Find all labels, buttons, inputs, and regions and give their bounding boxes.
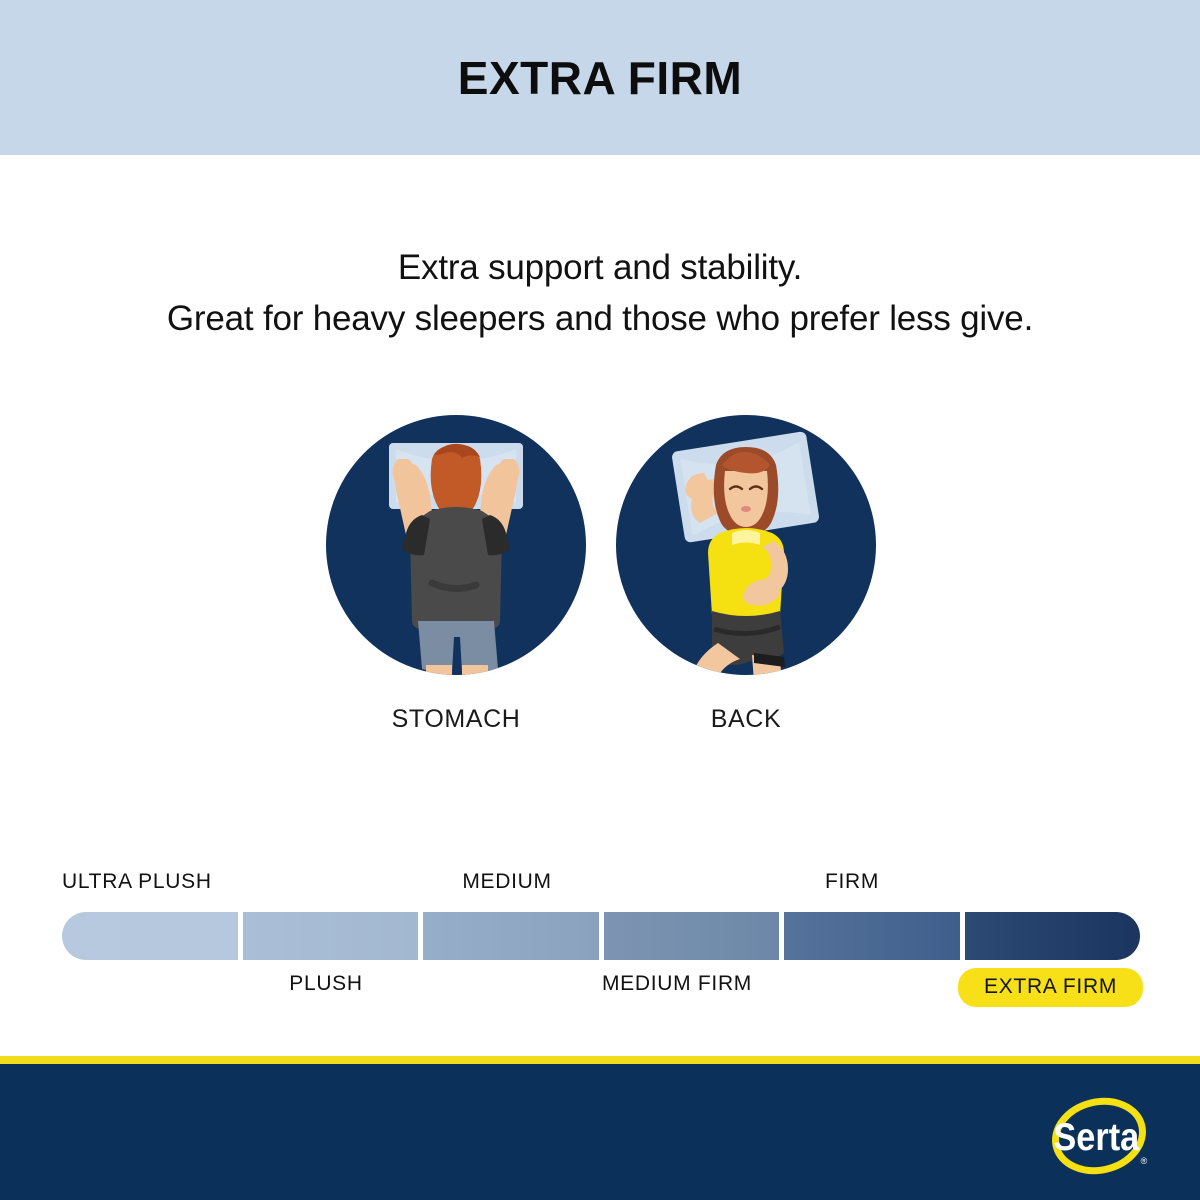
firmness-scale-bar	[62, 912, 1140, 960]
sleep-position-labels: STOMACH BACK	[0, 705, 1200, 745]
scale-label-medium-firm: MEDIUM FIRM	[587, 972, 767, 996]
page-title: EXTRA FIRM	[458, 51, 742, 105]
stomach-sleeper-icon	[326, 415, 586, 675]
sleeper-label-back: BACK	[616, 705, 876, 734]
scale-segment-firm[interactable]	[784, 912, 960, 960]
page-footer: Serta ®	[0, 1064, 1200, 1200]
serta-logo-icon: Serta ®	[1040, 1086, 1158, 1186]
sleeper-label-stomach: STOMACH	[326, 705, 586, 734]
stomach-sleeper-illustration	[326, 415, 586, 675]
serta-logo-text: Serta	[1053, 1115, 1139, 1159]
scale-segment-ultra-plush[interactable]	[62, 912, 238, 960]
scale-label-firm: FIRM	[762, 870, 942, 894]
scale-label-plush: PLUSH	[236, 972, 416, 996]
scale-segment-extra-firm[interactable]	[965, 912, 1141, 960]
scale-label-ultra-plush: ULTRA PLUSH	[62, 870, 212, 894]
page-header: EXTRA FIRM	[0, 0, 1200, 155]
back-sleeper-illustration	[616, 415, 876, 675]
scale-label-extra-firm-selected[interactable]: EXTRA FIRM	[958, 968, 1143, 1007]
subtitle-line-2: Great for heavy sleepers and those who p…	[0, 294, 1200, 345]
subtitle-block: Extra support and stability. Great for h…	[0, 243, 1200, 345]
scale-segment-plush[interactable]	[243, 912, 419, 960]
scale-segment-medium[interactable]	[423, 912, 599, 960]
scale-label-medium: MEDIUM	[417, 870, 597, 894]
firmness-scale: ULTRA PLUSH PLUSH MEDIUM MEDIUM FIRM FIR…	[0, 860, 1200, 1010]
sleep-position-illustrations	[0, 415, 1200, 685]
back-sleeper-icon	[616, 415, 876, 675]
subtitle-line-1: Extra support and stability.	[0, 243, 1200, 294]
footer-accent-stripe	[0, 1056, 1200, 1064]
scale-segment-medium-firm[interactable]	[604, 912, 780, 960]
serta-registered-mark: ®	[1141, 1156, 1148, 1166]
serta-logo[interactable]: Serta ®	[1040, 1086, 1158, 1186]
